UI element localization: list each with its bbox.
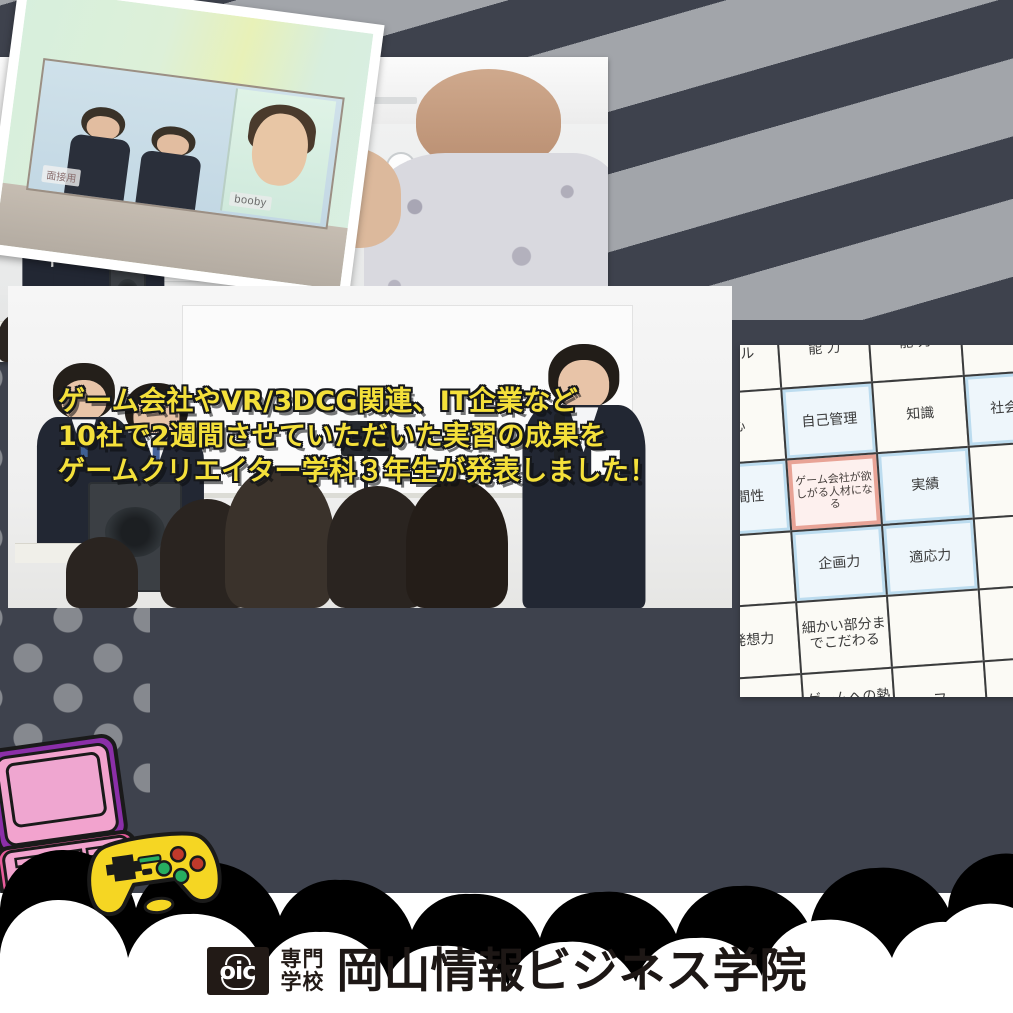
call-participant-tile: booby	[220, 88, 336, 224]
grid-cell: 細かい部分までこだわる	[795, 595, 893, 675]
school-type-line-1: 専門	[281, 948, 325, 971]
headline-line-3: ゲームクリエイター学科３年生が発表しました！	[58, 455, 758, 490]
audience-head	[406, 479, 507, 608]
grid-cell	[967, 439, 1013, 519]
poster-canvas: ご清聴ありがとうございました。	[0, 0, 1013, 1013]
grid-cell: 発想力	[740, 601, 803, 681]
oic-mark-icon: oic	[207, 947, 269, 995]
call-participant-2	[135, 123, 205, 210]
school-logo: oic 専門 学校 岡山情報ビジネス学院	[0, 947, 1013, 995]
grid-cell: フ	[891, 660, 989, 697]
grid-cell: 知識	[871, 374, 969, 454]
brow-shape	[225, 954, 251, 965]
handwritten-skill-grid-photo: スキル 能 力 能 力 心 自己管理 知識 社会性 人間性 ゲーム会社が欲しがる…	[740, 345, 1013, 697]
projected-video-call-photo: booby 面接用	[0, 0, 385, 301]
grid-cell: 企画力	[790, 523, 888, 603]
grid-cell: 自己管理	[780, 381, 878, 461]
grid-cell-center: ゲーム会社が欲しがる人材になる	[785, 452, 883, 532]
school-type-label: 専門 学校	[281, 948, 325, 993]
skill-grid: スキル 能 力 能 力 心 自己管理 知識 社会性 人間性 ゲーム会社が欲しがる…	[740, 345, 1013, 697]
headline-line-1: ゲーム会社やVR/3DCG関連、IT企業など	[58, 385, 758, 420]
grid-cell: 適応力	[881, 517, 979, 597]
school-type-line-2: 学校	[281, 971, 325, 994]
grid-cell	[982, 654, 1013, 697]
school-name-text: 岡山情報ビジネス学院	[337, 948, 807, 995]
smile-shape	[221, 977, 255, 990]
projection-surface: booby 面接用	[0, 0, 373, 290]
audience-head	[66, 537, 138, 608]
grid-cell	[977, 582, 1013, 662]
gamepad-sticker	[74, 810, 232, 929]
page-title: ゲーム会社やVR/3DCG関連、IT企業など 10社で2週間させていただいた実習…	[58, 385, 758, 489]
participant-name-label-left: 面接用	[41, 165, 81, 187]
grid-cell: 動力	[740, 673, 808, 697]
grid-cell: ゲームへの熱意	[800, 666, 898, 697]
grid-cell: 実績	[876, 446, 974, 526]
grid-cell: 社会性	[962, 368, 1013, 448]
headline-line-2: 10社で2週間させていただいた実習の成果を	[58, 420, 758, 455]
grid-cell	[740, 530, 798, 610]
participant-name-label: booby	[228, 192, 272, 211]
grid-cell	[972, 511, 1013, 591]
grid-cell	[886, 588, 984, 668]
